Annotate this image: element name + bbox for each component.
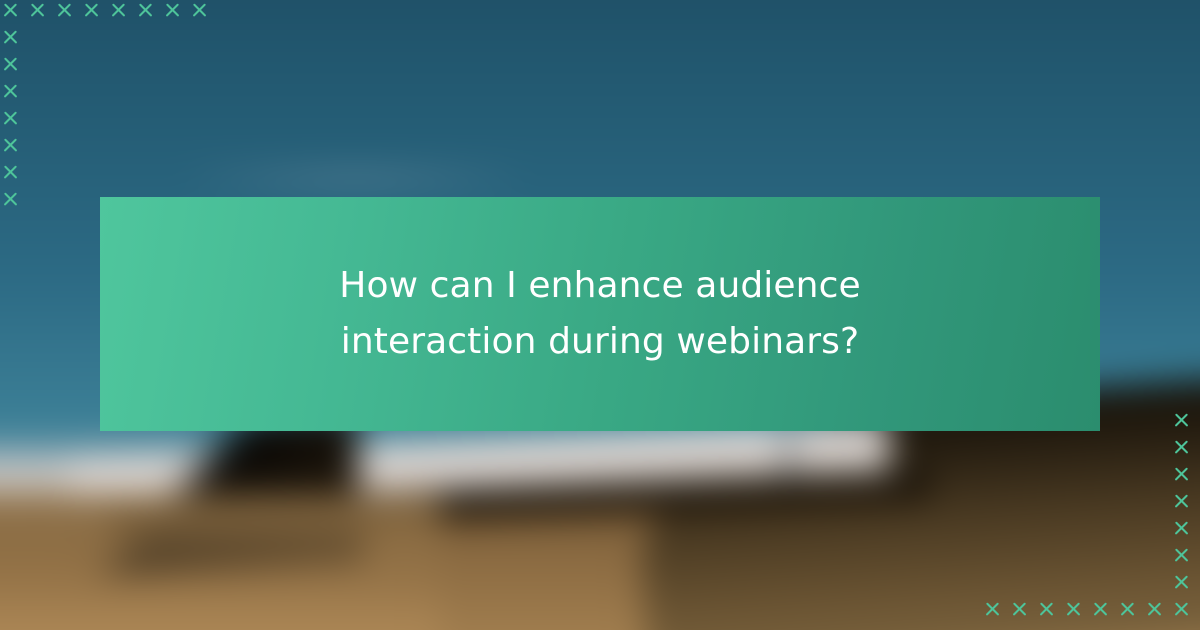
- page-title: How can I enhance audience interaction d…: [250, 258, 950, 370]
- share-card-canvas: How can I enhance audience interaction d…: [0, 0, 1200, 630]
- foreground-left-block: [0, 495, 440, 630]
- question-banner: How can I enhance audience interaction d…: [100, 197, 1100, 431]
- distant-roofline: [195, 170, 515, 186]
